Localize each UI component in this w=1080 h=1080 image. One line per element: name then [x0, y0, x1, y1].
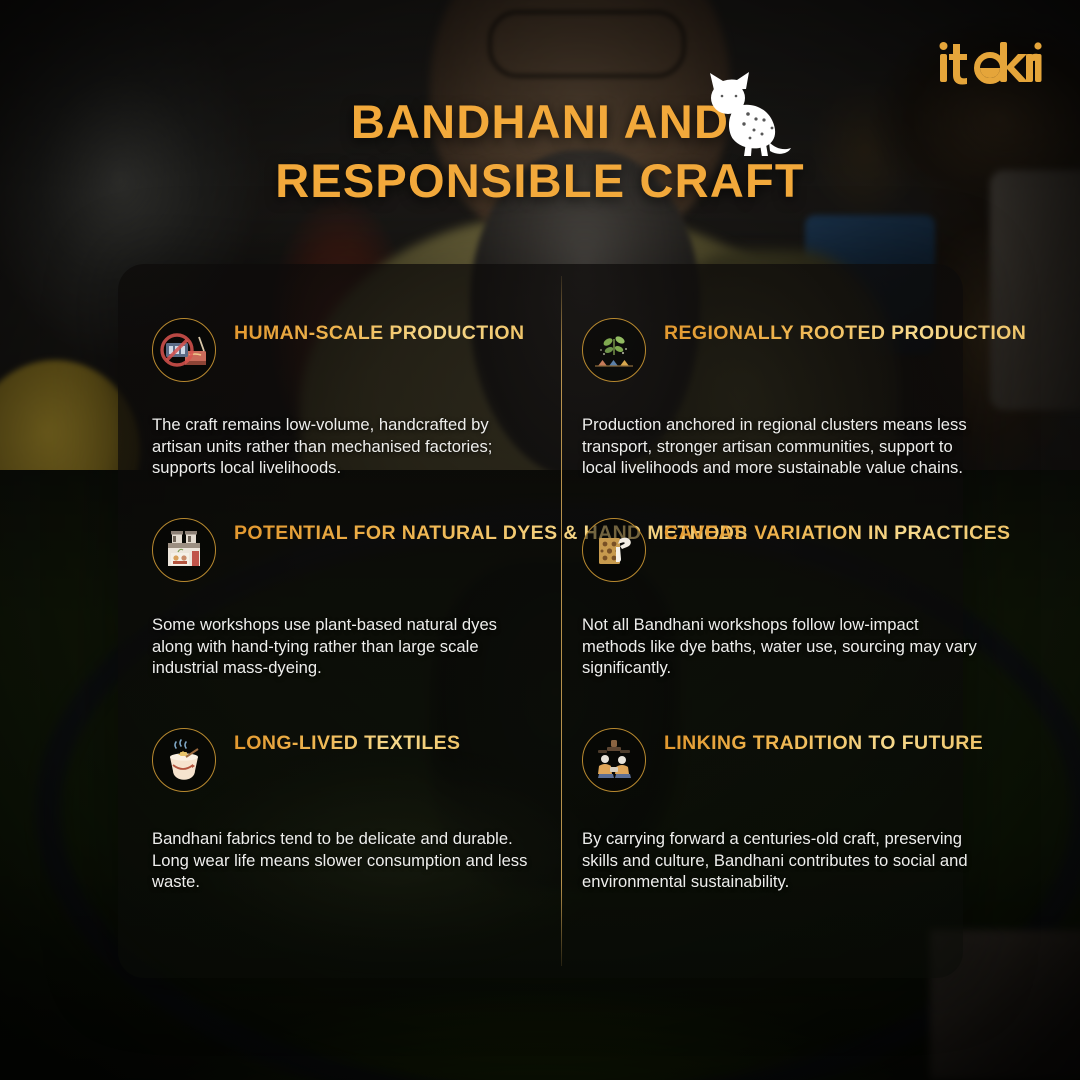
card-body: Some workshops use plant-based natural d… [152, 614, 542, 679]
card-body: The craft remains low-volume, handcrafte… [152, 414, 542, 479]
itokri-logo[interactable] [938, 40, 1042, 86]
card-header: REGIONALLY ROOTED PRODUCTION [582, 318, 1026, 382]
card-body: Not all Bandhani workshops follow low-im… [582, 614, 982, 679]
two-artisans-icon [582, 728, 646, 792]
title-line-2: RESPONSIBLE CRAFT [0, 151, 1080, 210]
card-header: LINKING TRADITION TO FUTURE [582, 728, 983, 792]
title-line-1: BANDHANI AND [0, 92, 1080, 151]
card-header: CAVEAT: VARIATION IN PRACTICES [582, 518, 1010, 582]
card-title: CAVEAT: VARIATION IN PRACTICES [664, 518, 1010, 545]
card-caveat-variation-in-practices: CAVEAT: VARIATION IN PRACTICES Not all B… [582, 518, 1010, 679]
card-header: LONG-LIVED TEXTILES [152, 728, 542, 792]
page-title: BANDHANI AND RESPONSIBLE CRAFT [0, 92, 1080, 210]
sprout-regional-icon-glyph [589, 325, 639, 375]
card-title: HUMAN-SCALE PRODUCTION [234, 318, 524, 345]
hand-block-print-icon-glyph [589, 525, 639, 575]
itokri-logo-mark [938, 40, 1042, 86]
workshop-building-icon [152, 518, 216, 582]
sprout-regional-icon [582, 318, 646, 382]
card-linking-tradition-to-future: LINKING TRADITION TO FUTURE By carrying … [582, 728, 983, 893]
card-body: By carrying forward a centuries-old craf… [582, 828, 982, 893]
card-regionally-rooted-production: REGIONALLY ROOTED PRODUCTION Production … [582, 318, 1026, 479]
no-machine-icon-glyph [159, 325, 209, 375]
cat-illustration-icon [686, 56, 806, 156]
two-artisans-icon-glyph [589, 735, 639, 785]
steaming-dye-pot-icon-glyph [159, 735, 209, 785]
card-title: REGIONALLY ROOTED PRODUCTION [664, 318, 1026, 345]
no-machine-icon [152, 318, 216, 382]
infographic-canvas: BANDHANI AND RESPONSIBLE CRAFT [0, 0, 1080, 1080]
card-title: LONG-LIVED TEXTILES [234, 728, 460, 755]
workshop-building-icon-glyph [159, 525, 209, 575]
hand-block-print-icon [582, 518, 646, 582]
steaming-dye-pot-icon [152, 728, 216, 792]
card-long-lived-textiles: LONG-LIVED TEXTILES Bandhani fabrics ten… [152, 728, 542, 893]
card-body: Bandhani fabrics tend to be delicate and… [152, 828, 542, 893]
card-body: Production anchored in regional clusters… [582, 414, 982, 479]
card-header: HUMAN-SCALE PRODUCTION [152, 318, 542, 382]
card-human-scale-production: HUMAN-SCALE PRODUCTION The craft remains… [152, 318, 542, 479]
card-title: LINKING TRADITION TO FUTURE [664, 728, 983, 755]
